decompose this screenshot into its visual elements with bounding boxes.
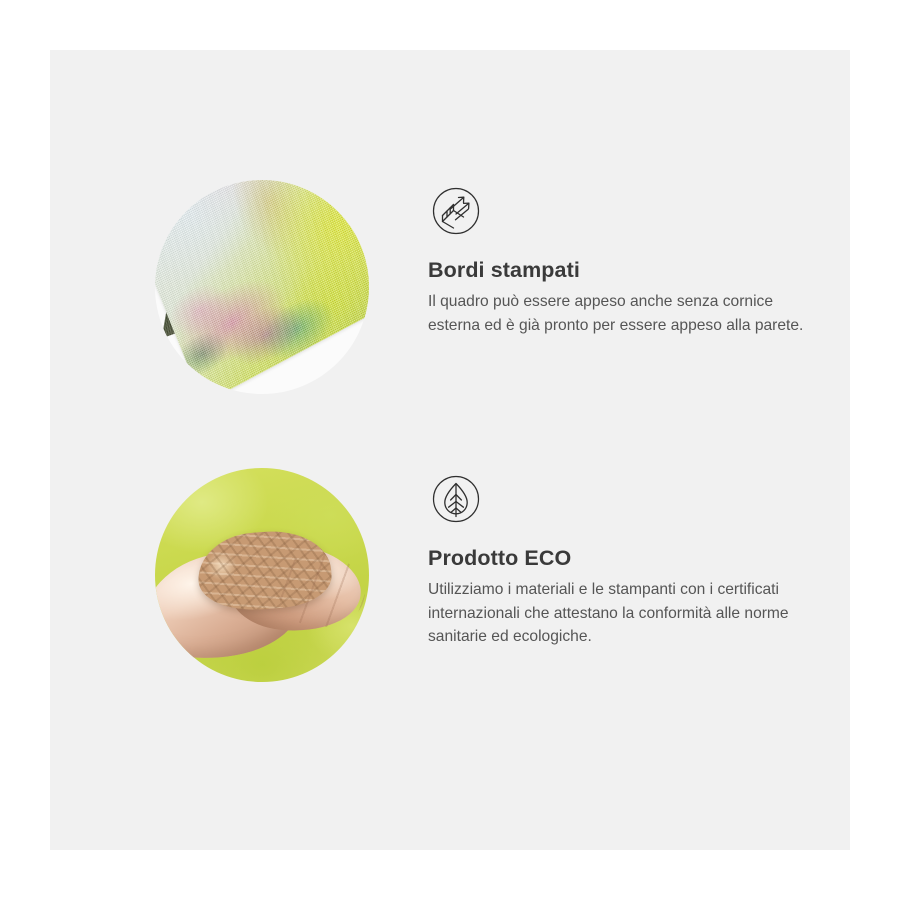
canvas-print-front-face — [155, 180, 369, 394]
leaf-icon — [429, 472, 483, 526]
feature-title-eco-product: Prodotto ECO — [428, 546, 808, 571]
feature-body-printed-edges: Il quadro può essere appeso anche senza … — [428, 290, 808, 337]
canvas-print-photo-circle — [155, 180, 369, 394]
content-panel: Bordi stampati Il quadro può essere appe… — [50, 50, 850, 850]
eco-wood-chips-photo — [155, 468, 369, 682]
eco-product-text: Prodotto ECO Utilizziamo i materiali e l… — [428, 546, 808, 649]
printed-edges-text: Bordi stampati Il quadro può essere appe… — [428, 258, 808, 337]
canvas-print-corner-photo — [155, 180, 369, 394]
printed-edges-icon — [429, 184, 483, 238]
feature-title-printed-edges: Bordi stampati — [428, 258, 808, 283]
eco-photo-circle — [155, 468, 369, 682]
feature-body-eco-product: Utilizziamo i materiali e le stampanti c… — [428, 578, 808, 649]
product-feature-infographic: Bordi stampati Il quadro può essere appe… — [0, 0, 900, 900]
